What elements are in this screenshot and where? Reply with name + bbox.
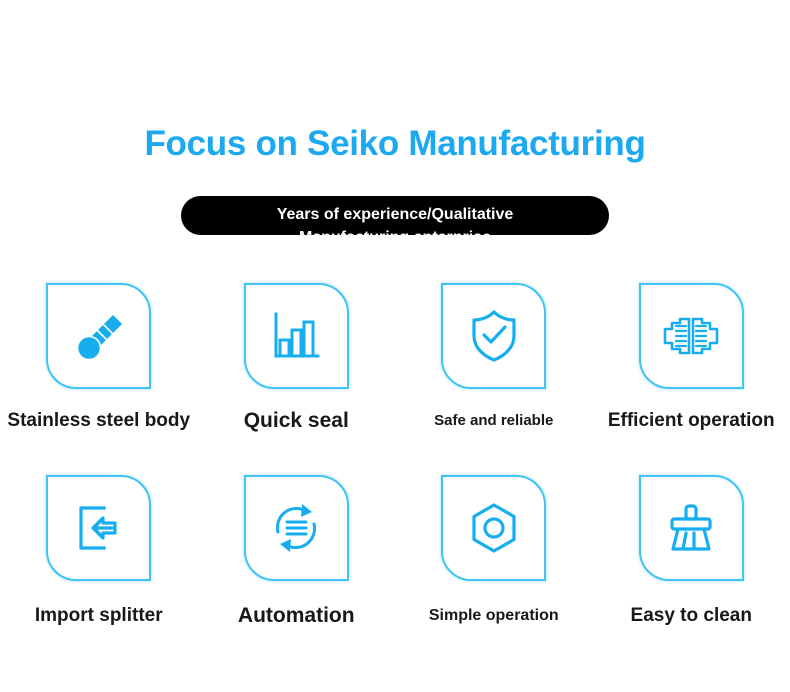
icon-frame bbox=[244, 475, 349, 581]
shield-check-icon bbox=[463, 305, 525, 367]
feature-label: Import splitter bbox=[35, 605, 163, 627]
gear-documents-icon bbox=[658, 305, 724, 367]
icon-frame bbox=[244, 283, 349, 389]
subtitle-line-2: Manufacturing enterprise bbox=[277, 226, 514, 235]
subtitle-badge-text: Years of experience/Qualitative Manufact… bbox=[277, 203, 514, 235]
feature-item-efficient-operation[interactable]: Efficient operation bbox=[593, 283, 790, 432]
feature-label: Easy to clean bbox=[631, 605, 752, 627]
feature-item-quick-seal[interactable]: Quick seal bbox=[198, 283, 396, 432]
feature-item-stainless-steel-body[interactable]: Stainless steel body bbox=[0, 283, 198, 432]
feature-item-automation[interactable]: Automation bbox=[198, 475, 396, 627]
broom-icon bbox=[660, 497, 722, 559]
icon-frame bbox=[46, 283, 151, 389]
feature-label: Safe and reliable bbox=[434, 410, 553, 432]
subtitle-badge: Years of experience/Qualitative Manufact… bbox=[181, 196, 609, 235]
icon-frame bbox=[46, 475, 151, 581]
steel-rod-icon bbox=[68, 305, 130, 367]
automation-cycle-icon bbox=[265, 497, 327, 559]
feature-label: Automation bbox=[238, 605, 355, 627]
feature-grid: Stainless steel body Quick seal bbox=[0, 283, 790, 627]
feature-item-import-splitter[interactable]: Import splitter bbox=[0, 475, 198, 627]
subtitle-line-1: Years of experience/Qualitative bbox=[277, 203, 514, 226]
feature-label: Stainless steel body bbox=[7, 410, 190, 432]
feature-item-safe-and-reliable[interactable]: Safe and reliable bbox=[395, 283, 593, 432]
feature-label: Quick seal bbox=[244, 410, 349, 432]
page-title: Focus on Seiko Manufacturing bbox=[0, 122, 790, 166]
icon-frame bbox=[441, 475, 546, 581]
promo-feature-page: Focus on Seiko Manufacturing Years of ex… bbox=[0, 0, 790, 692]
feature-item-simple-operation[interactable]: Simple operation bbox=[395, 475, 593, 627]
subtitle-badge-clip: Years of experience/Qualitative Manufact… bbox=[181, 196, 609, 235]
import-arrow-icon bbox=[68, 497, 130, 559]
feature-label: Simple operation bbox=[429, 605, 559, 627]
feature-label: Efficient operation bbox=[608, 410, 775, 432]
icon-frame bbox=[639, 475, 744, 581]
bar-chart-icon bbox=[265, 305, 327, 367]
icon-frame bbox=[639, 283, 744, 389]
feature-row-2: Import splitter bbox=[0, 475, 790, 627]
feature-item-easy-to-clean[interactable]: Easy to clean bbox=[593, 475, 790, 627]
feature-row-1: Stainless steel body Quick seal bbox=[0, 283, 790, 432]
icon-frame bbox=[441, 283, 546, 389]
hex-nut-icon bbox=[463, 497, 525, 559]
